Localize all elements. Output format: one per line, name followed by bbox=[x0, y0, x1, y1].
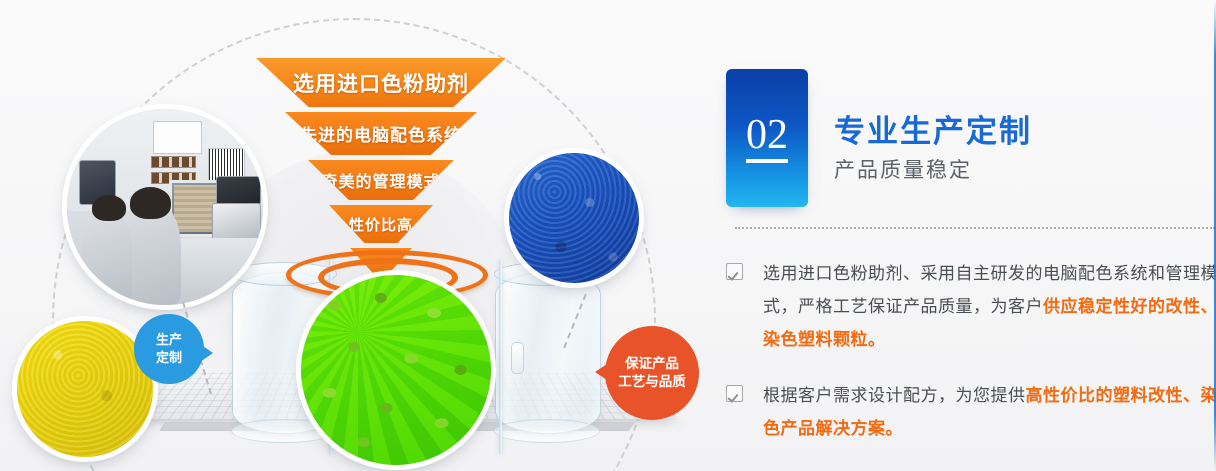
funnel-layer-label: 先进的电脑配色系统 bbox=[300, 121, 462, 146]
checkbox-checked-icon bbox=[726, 385, 743, 402]
dotted-divider bbox=[735, 227, 1215, 229]
funnel-layer-label: 性价比高 bbox=[349, 214, 413, 235]
feature-point-1: 选用进口色粉助剂、采用自主研发的电脑配色系统和管理模式，严格工艺保证产品质量，为… bbox=[726, 257, 1216, 356]
feature-point-2-prefix: 根据客户需求设计配方，为您提供 bbox=[763, 386, 1026, 405]
glass-handle bbox=[511, 342, 524, 374]
bubble-tail bbox=[595, 362, 610, 382]
funnel-layer-label: 奇美的管理模式 bbox=[321, 168, 440, 192]
illustration-panel: 选用进口色粉助剂 先进的电脑配色系统 奇美的管理模式 性价比高 bbox=[0, 0, 700, 471]
funnel-layer-3: 奇美的管理模式 bbox=[308, 160, 454, 200]
funnel-layer-1: 选用进口色粉助剂 bbox=[256, 58, 506, 107]
lab-photo-circle bbox=[62, 104, 268, 310]
callout-bubble-quality: 保证产品 工艺与品质 bbox=[605, 326, 699, 420]
bubble-tail bbox=[200, 344, 213, 362]
section-subtitle: 产品质量稳定 bbox=[834, 154, 972, 184]
green-pellets-image bbox=[301, 275, 491, 465]
section-number-badge: 02 bbox=[726, 69, 808, 207]
funnel-layer-4: 性价比高 bbox=[329, 205, 433, 243]
lab-worker-head bbox=[130, 187, 171, 218]
checkbox-checked-icon bbox=[726, 263, 743, 280]
section-number: 02 bbox=[746, 114, 788, 163]
lab-document bbox=[153, 121, 202, 154]
callout-bubble-production: 生产 定制 bbox=[134, 314, 204, 384]
content-panel: 02 专业生产定制 产品质量稳定 选用进口色粉助剂、采用自主研发的电脑配色系统和… bbox=[700, 0, 1216, 471]
process-funnel: 选用进口色粉助剂 先进的电脑配色系统 奇美的管理模式 性价比高 bbox=[256, 58, 506, 254]
lab-photo-image bbox=[67, 109, 263, 305]
blue-pigment-circle bbox=[504, 148, 644, 288]
glass-rim-bottom bbox=[494, 419, 600, 443]
bubble-line-1: 保证产品 bbox=[625, 355, 679, 373]
lab-equipment bbox=[216, 176, 261, 205]
glass-pane bbox=[499, 260, 502, 454]
lab-worker bbox=[81, 207, 132, 305]
yellow-pigment-image bbox=[17, 321, 153, 457]
lab-worker-head bbox=[92, 195, 125, 220]
promo-banner: 选用进口色粉助剂 先进的电脑配色系统 奇美的管理模式 性价比高 bbox=[0, 0, 1216, 471]
lab-rack bbox=[151, 156, 196, 168]
feature-point-2-text: 根据客户需求设计配方，为您提供高性价比的塑料改性、染色产品解决方案。 bbox=[763, 379, 1216, 445]
feature-point-1-text: 选用进口色粉助剂、采用自主研发的电脑配色系统和管理模式，严格工艺保证产品质量，为… bbox=[763, 257, 1216, 356]
bubble-line-1: 生产 bbox=[156, 331, 182, 349]
funnel-layer-label: 选用进口色粉助剂 bbox=[293, 68, 469, 98]
bubble-line-2: 工艺与品质 bbox=[618, 373, 686, 391]
blue-pigment-image bbox=[509, 153, 639, 283]
section-title: 专业生产定制 bbox=[834, 106, 1032, 151]
funnel-layer-2: 先进的电脑配色系统 bbox=[285, 112, 477, 155]
feature-point-2: 根据客户需求设计配方，为您提供高性价比的塑料改性、染色产品解决方案。 bbox=[726, 379, 1216, 445]
bubble-line-2: 定制 bbox=[156, 349, 182, 367]
green-pellets-circle bbox=[296, 270, 496, 470]
